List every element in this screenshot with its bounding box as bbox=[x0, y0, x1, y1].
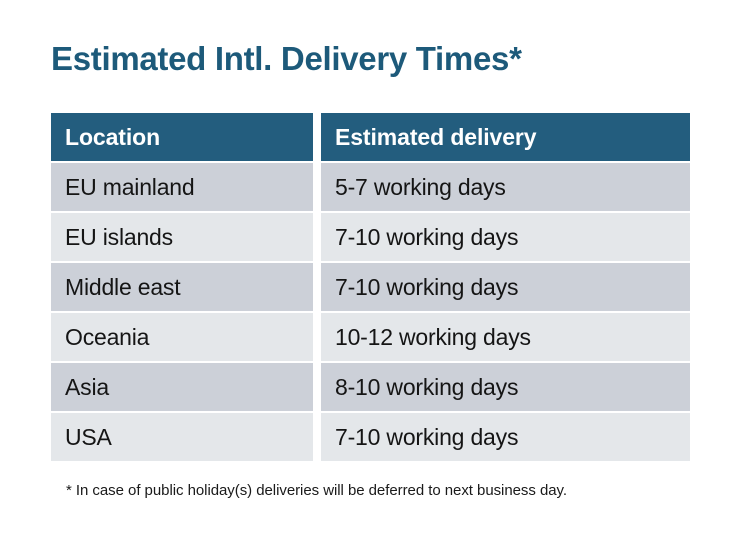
cell-estimated-delivery: 5-7 working days bbox=[321, 163, 690, 211]
cell-estimated-delivery: 7-10 working days bbox=[321, 263, 690, 311]
cell-estimated-delivery: 7-10 working days bbox=[321, 213, 690, 261]
table-header-row: Location Estimated delivery bbox=[51, 113, 690, 161]
table-row: Middle east 7-10 working days bbox=[51, 263, 690, 311]
table-row: EU islands 7-10 working days bbox=[51, 213, 690, 261]
delivery-times-card: Estimated Intl. Delivery Times* Location… bbox=[0, 0, 745, 536]
cell-location: Oceania bbox=[51, 313, 313, 361]
cell-location: Middle east bbox=[51, 263, 313, 311]
page-title: Estimated Intl. Delivery Times* bbox=[51, 38, 522, 80]
cell-estimated-delivery: 10-12 working days bbox=[321, 313, 690, 361]
cell-location: USA bbox=[51, 413, 313, 461]
cell-estimated-delivery: 8-10 working days bbox=[321, 363, 690, 411]
cell-estimated-delivery: 7-10 working days bbox=[321, 413, 690, 461]
cell-location: EU mainland bbox=[51, 163, 313, 211]
table-row: EU mainland 5-7 working days bbox=[51, 163, 690, 211]
column-header-location: Location bbox=[51, 113, 313, 161]
cell-location: Asia bbox=[51, 363, 313, 411]
table-row: USA 7-10 working days bbox=[51, 413, 690, 461]
footnote: * In case of public holiday(s) deliverie… bbox=[66, 482, 567, 499]
cell-location: EU islands bbox=[51, 213, 313, 261]
column-header-estimated-delivery: Estimated delivery bbox=[321, 113, 690, 161]
table-row: Oceania 10-12 working days bbox=[51, 313, 690, 361]
delivery-times-table: Location Estimated delivery EU mainland … bbox=[51, 113, 690, 461]
table-row: Asia 8-10 working days bbox=[51, 363, 690, 411]
